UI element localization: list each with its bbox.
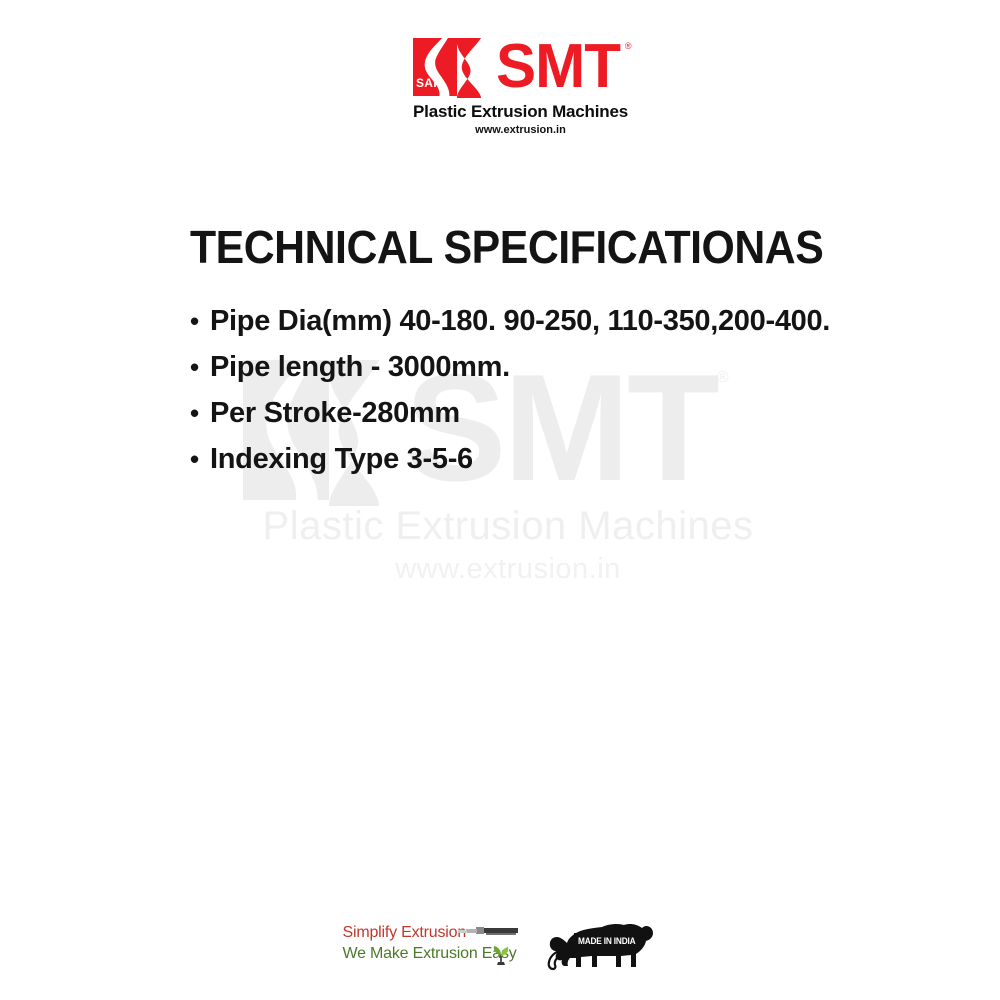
specifications-list: • Pipe Dia(mm) 40-180. 90-250, 110-350,2… <box>190 298 980 482</box>
sprout-leaf-icon <box>491 944 511 966</box>
registered-mark-icon: ® <box>625 42 632 51</box>
bullet-icon: • <box>190 436 210 482</box>
bullet-icon: • <box>190 390 210 436</box>
smt-letters: SMT <box>496 39 620 95</box>
page-title: TECHNICAL SPECIFICATIONAS <box>190 221 823 273</box>
list-item: • Indexing Type 3-5-6 <box>190 436 980 482</box>
smt-wordmark: SMT ® <box>455 38 632 98</box>
logo-url: www.extrusion.in <box>413 124 628 136</box>
list-item: • Pipe length - 3000mm. <box>190 344 980 390</box>
lion-icon <box>546 920 658 972</box>
footer: Simplify Extrusion We Make Extrusion Eas… <box>0 915 1000 977</box>
sai-badge-icon: SAI <box>413 38 457 96</box>
logo-wordmark-row: SAI SMT ® <box>413 38 628 100</box>
spec-label: Pipe Dia(mm) 40-180. 90-250, 110-350,200… <box>210 298 830 344</box>
extruder-machine-icon <box>456 924 518 940</box>
smt-s-glyph-icon <box>455 38 495 98</box>
spec-label: Per Stroke-280mm <box>210 390 460 436</box>
company-tagline-block: Simplify Extrusion We Make Extrusion Eas… <box>343 922 518 970</box>
made-in-india-badge: MADE IN INDIA <box>546 920 658 972</box>
list-item: • Pipe Dia(mm) 40-180. 90-250, 110-350,2… <box>190 298 980 344</box>
list-item: • Per Stroke-280mm <box>190 390 980 436</box>
watermark-tagline: Plastic Extrusion Machines <box>243 504 773 549</box>
slide-canvas: SAI SMT ® Plastic Extrusion Machines www… <box>0 0 1000 1000</box>
bullet-icon: • <box>190 298 210 344</box>
spec-label: Indexing Type 3-5-6 <box>210 436 473 482</box>
spec-label: Pipe length - 3000mm. <box>210 344 510 390</box>
sai-label: SAI <box>416 77 437 89</box>
watermark-url: www.extrusion.in <box>243 553 773 586</box>
made-in-india-label: MADE IN INDIA <box>578 937 635 946</box>
logo-tagline: Plastic Extrusion Machines <box>413 102 628 122</box>
company-logo: SAI SMT ® Plastic Extrusion Machines www… <box>413 38 628 130</box>
bullet-icon: • <box>190 344 210 390</box>
